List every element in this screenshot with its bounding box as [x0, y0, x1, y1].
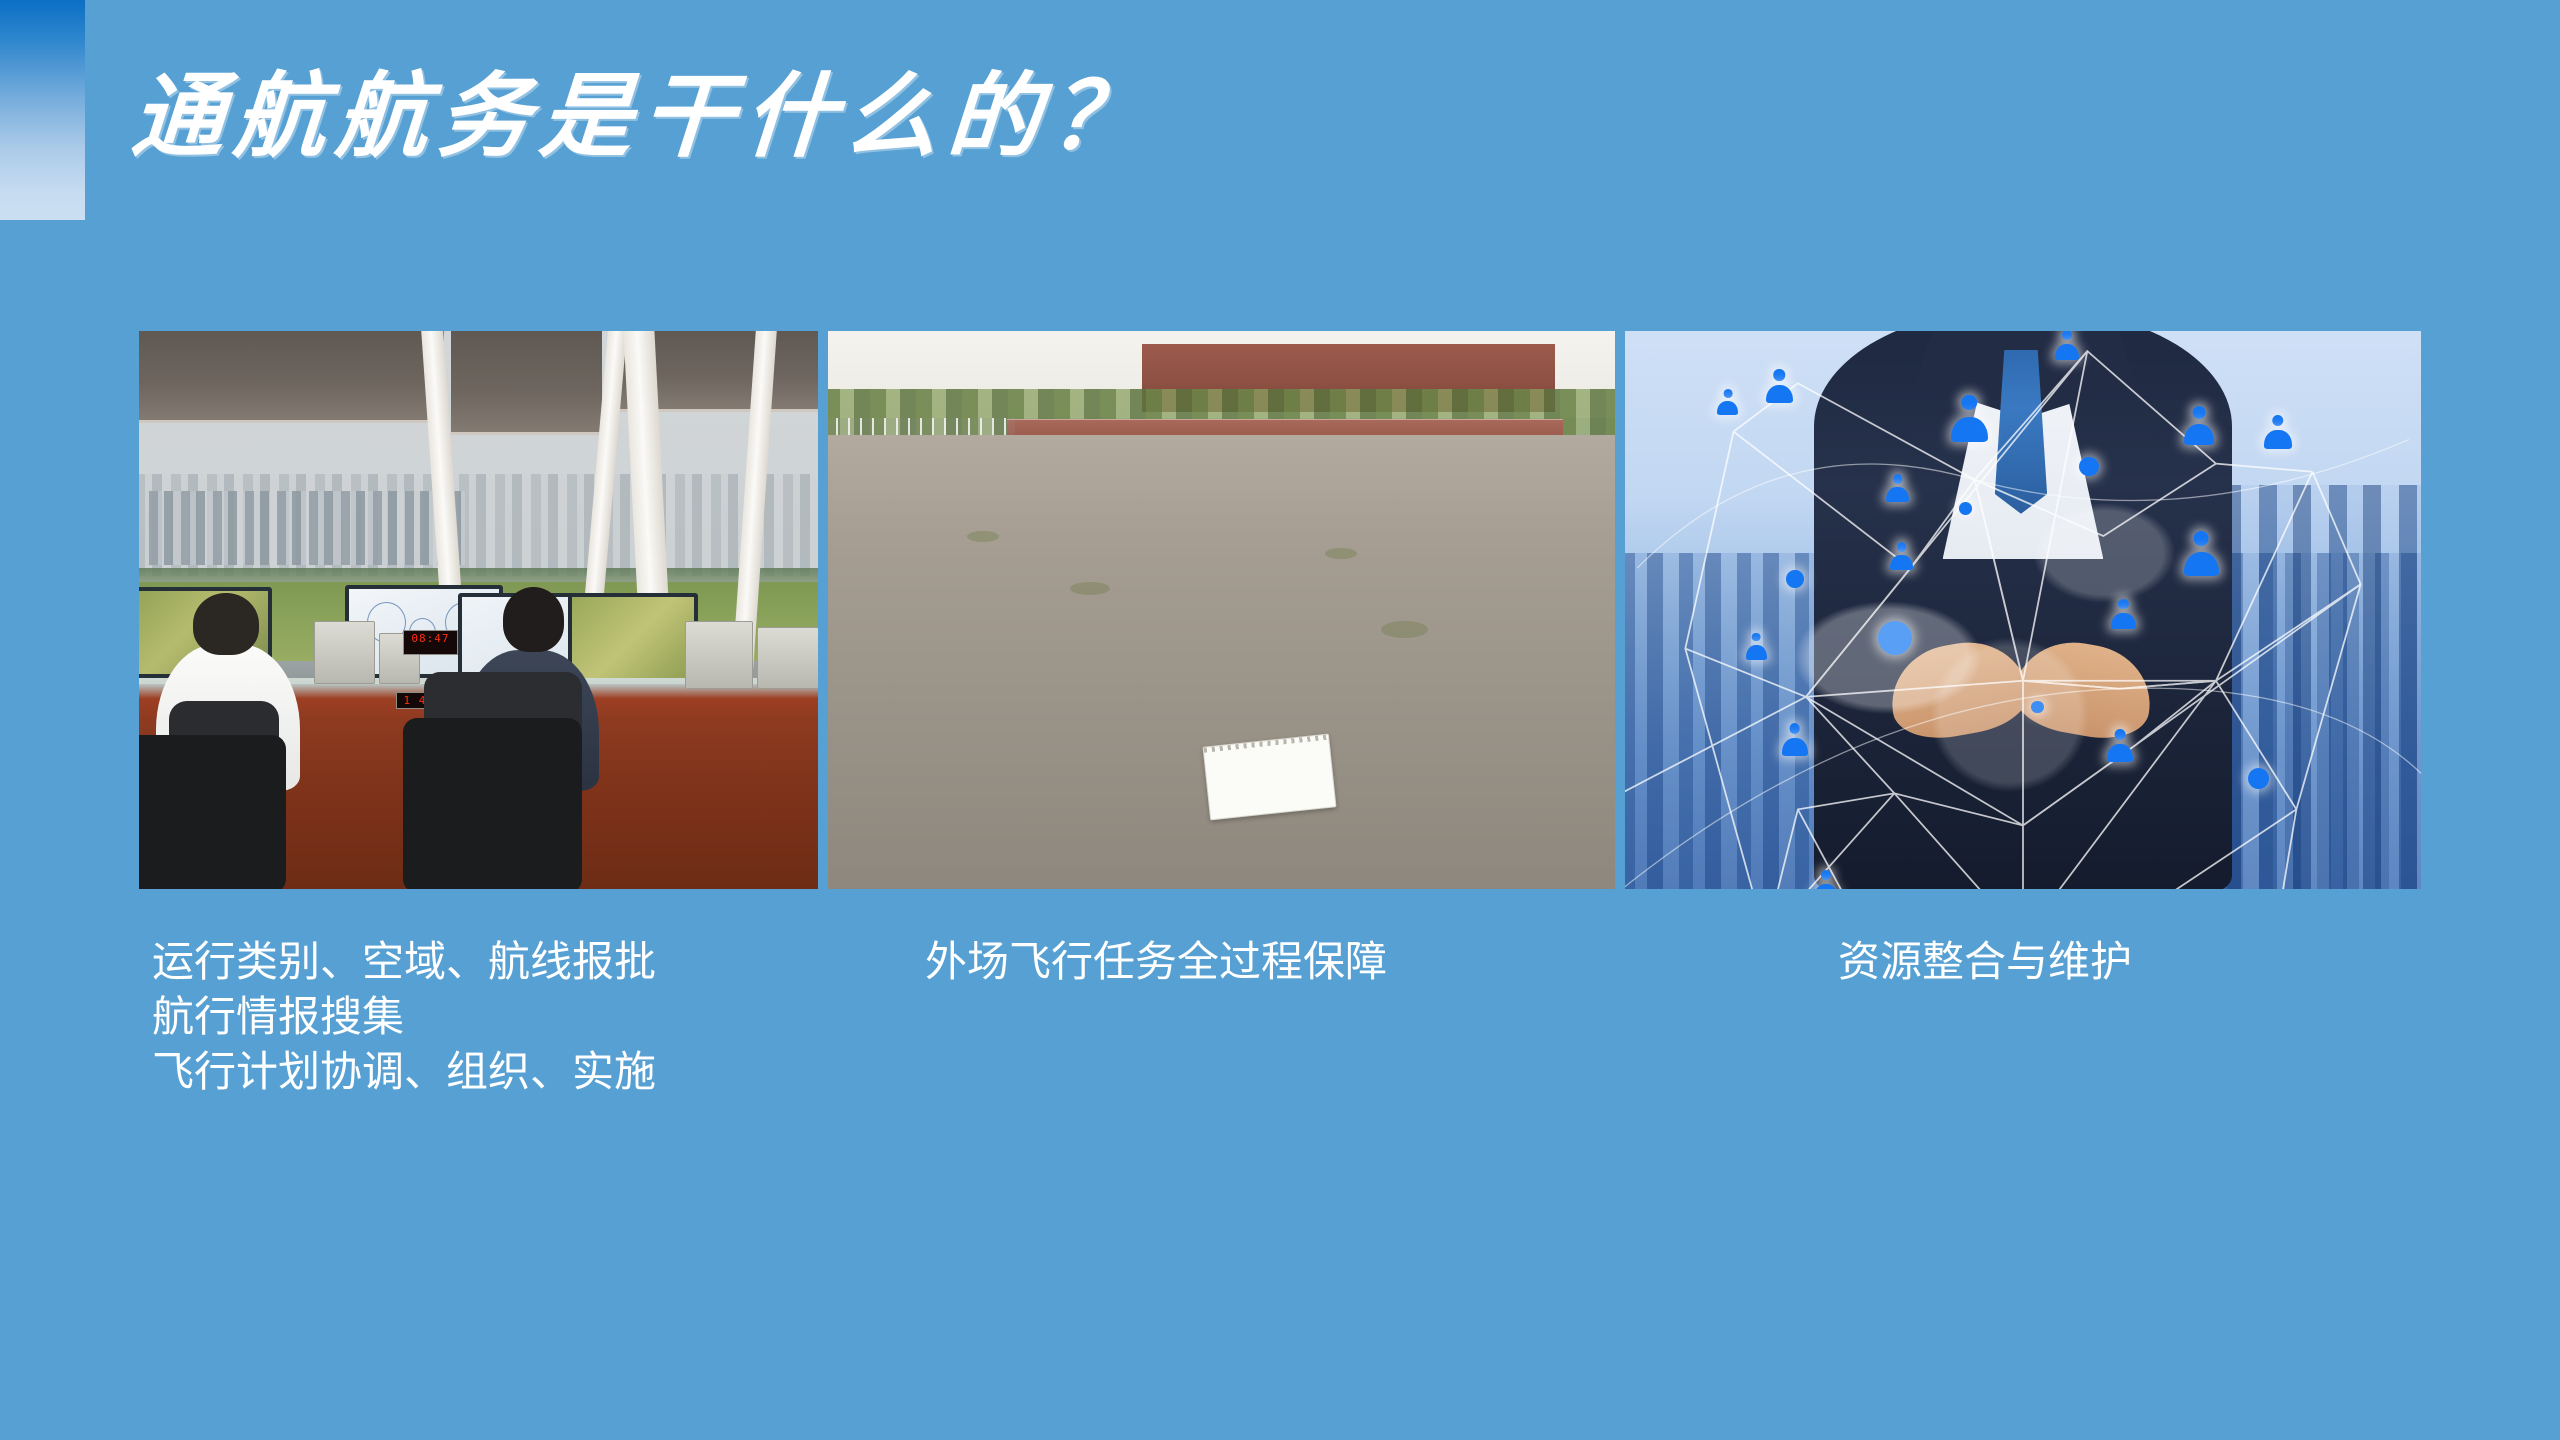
panel-3-image — [1621, 327, 2425, 893]
grass-patch — [967, 531, 999, 542]
user-node-body — [2055, 344, 2079, 361]
radio-equipment-right — [685, 621, 754, 689]
console-monitor-terrain-right — [568, 593, 699, 684]
user-node-head — [1821, 870, 1831, 880]
user-node-body — [1766, 385, 1793, 403]
panel-2-caption: 外场飞行任务全过程保障 — [925, 934, 1625, 989]
user-node-head — [1774, 369, 1785, 380]
office-chair-2 — [403, 718, 582, 893]
page-title: 通航航务是干什么的？ — [128, 62, 1236, 172]
user-node-head — [2062, 330, 2072, 340]
office-chair-1 — [135, 735, 286, 893]
radio-equipment-left — [314, 621, 376, 683]
briefing-notepad — [1202, 734, 1336, 820]
led-clock-value: 08:47 — [404, 631, 457, 644]
panel-3-caption: 资源整合与维护 — [1838, 934, 2458, 989]
user-node-icon — [1766, 369, 1793, 403]
gravel-ground — [824, 435, 1619, 893]
user-node-body — [1717, 401, 1738, 415]
controller-2-head — [503, 587, 565, 652]
panel-1-caption: 运行类别、空域、航线报批 航行情报搜集 飞行计划协调、组织、实施 — [152, 934, 792, 1099]
user-node-head — [1724, 389, 1733, 398]
user-node-icon — [1814, 870, 1838, 893]
radio-equipment-far-right — [757, 627, 819, 689]
tower-city-skyline-near — [149, 491, 465, 565]
controller-1-head — [193, 593, 258, 655]
grass-patch — [1325, 548, 1357, 559]
user-node-icon — [2264, 415, 2291, 449]
person-4-badge — [824, 327, 826, 329]
window-blind-left — [135, 327, 444, 423]
user-node-icon — [1717, 389, 1738, 415]
user-node-head — [2272, 415, 2283, 426]
led-clock-display: 08:47 — [403, 630, 458, 655]
panel-1-image: 08:47 1 4 — [135, 327, 822, 893]
accent-bar — [0, 0, 85, 220]
panel-2-image — [824, 327, 1619, 893]
window-blind-center — [451, 327, 602, 435]
user-node-body — [1814, 884, 1838, 893]
user-node-icon — [2055, 330, 2079, 361]
